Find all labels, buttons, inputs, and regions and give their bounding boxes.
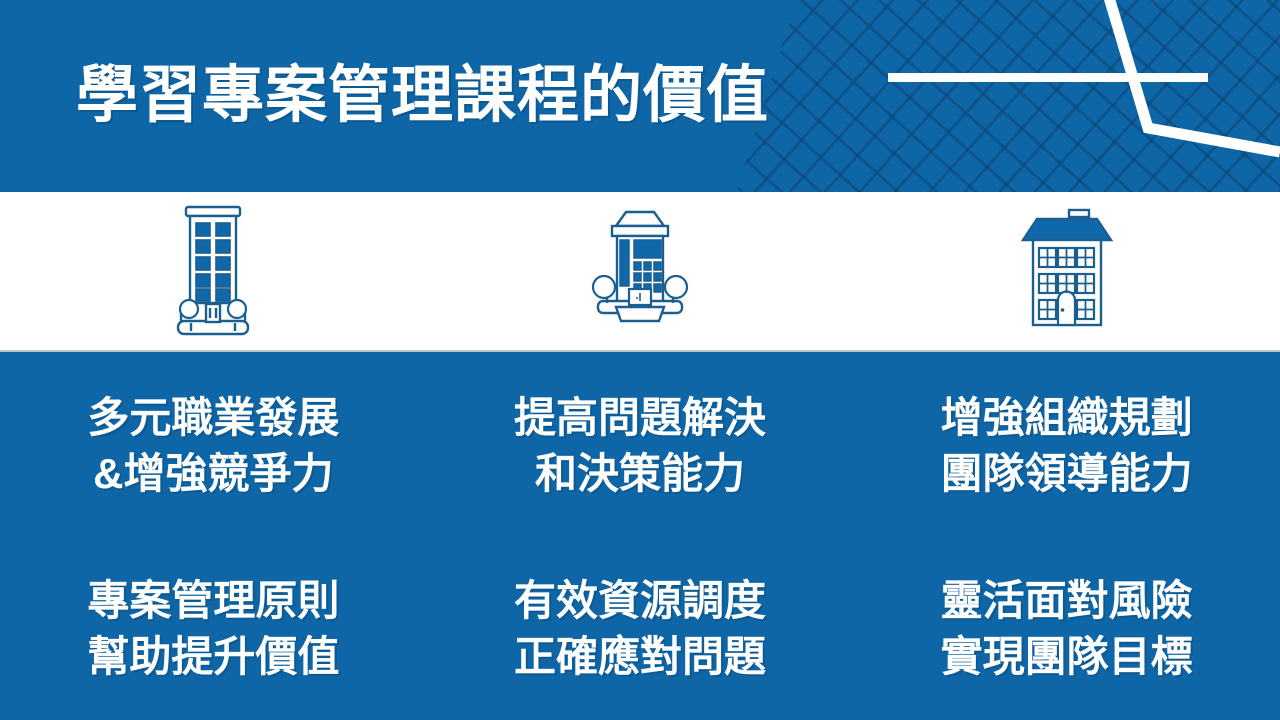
body-band: 多元職業發展 &增強競爭力 提高問題解決 和決策能力 增強組織規劃 團隊領導能力…	[0, 354, 1280, 720]
header-band: 學習專案管理課程的價值	[0, 0, 1280, 192]
benefit-line-1b: &增強競爭力	[93, 446, 333, 501]
slide-canvas: 學習專案管理課程的價值	[0, 0, 1280, 720]
icon-cell-1	[0, 192, 427, 350]
icon-cell-2	[427, 192, 854, 350]
icon-band	[0, 192, 1280, 352]
benefit-line-3a: 增強組織規劃	[941, 390, 1193, 445]
benefit-line-2b: 和決策能力	[535, 446, 745, 501]
icon-cell-3	[853, 192, 1280, 350]
benefit-line-2a: 提高問題解決	[514, 390, 766, 445]
house-icon	[1009, 205, 1125, 337]
benefit-line-3b: 團隊領導能力	[941, 446, 1193, 501]
detail-line-3b: 實現團隊目標	[941, 629, 1193, 684]
detail-line-3a: 靈活面對風險	[941, 573, 1193, 628]
white-bent-polyline	[1080, 0, 1280, 192]
detail-line-2a: 有效資源調度	[514, 573, 766, 628]
office-building-icon	[574, 203, 706, 339]
page-title: 學習專案管理課程的價值	[76, 64, 769, 127]
benefit-cell-3: 增強組織規劃 團隊領導能力	[853, 390, 1280, 501]
detail-line-2b: 正確應對問題	[514, 629, 766, 684]
detail-row: 專案管理原則 幫助提升價值 有效資源調度 正確應對問題 靈活面對風險 實現團隊目…	[0, 537, 1280, 720]
page-title-wrap: 學習專案管理課程的價值	[76, 48, 866, 144]
office-tower-icon	[159, 203, 267, 339]
benefit-cell-1: 多元職業發展 &增強競爭力	[0, 390, 427, 501]
benefit-cell-2: 提高問題解決 和決策能力	[427, 390, 854, 501]
detail-cell-3: 靈活面對風險 實現團隊目標	[853, 573, 1280, 684]
benefit-row: 多元職業發展 &增強競爭力 提高問題解決 和決策能力 增強組織規劃 團隊領導能力	[0, 354, 1280, 537]
detail-cell-2: 有效資源調度 正確應對問題	[427, 573, 854, 684]
detail-cell-1: 專案管理原則 幫助提升價值	[0, 573, 427, 684]
detail-line-1b: 幫助提升價值	[87, 629, 339, 684]
detail-line-1a: 專案管理原則	[87, 573, 339, 628]
benefit-line-1a: 多元職業發展	[87, 390, 339, 445]
